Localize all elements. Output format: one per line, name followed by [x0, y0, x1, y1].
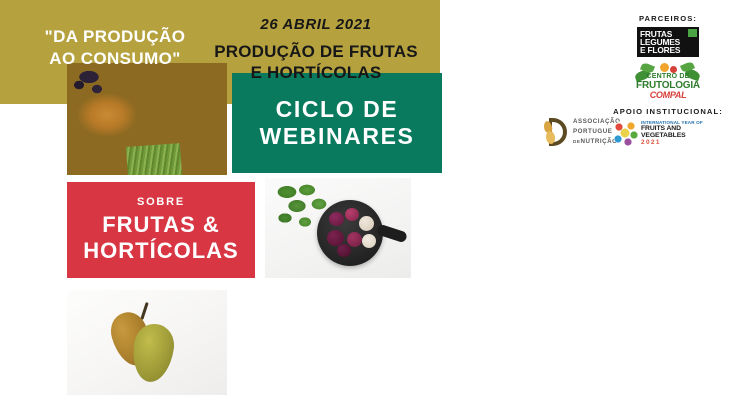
radish-detail	[362, 234, 376, 248]
green-block-line2: WEBINARES	[260, 123, 415, 150]
webinar-quote: "DA PRODUÇÃO AO CONSUMO"	[20, 26, 210, 70]
flf-line3: E FLORES	[640, 46, 696, 54]
ciclo-de-webinares-block: CICLO DE WEBINARES	[232, 73, 442, 173]
radish-detail	[345, 208, 359, 221]
session-title-group: 26 ABRIL 2021 PRODUÇÃO DE FRUTAS E HORTÍ…	[198, 16, 434, 83]
sobre-frutas-horticolas-block: SOBRE FRUTAS & HORTÍCOLAS	[67, 182, 255, 278]
partners-column: PARCEIROS: FRUTAS LEGUMES E FLORES CENTR…	[612, 14, 724, 146]
radish-detail	[347, 232, 362, 247]
institutional-support-group: APOIO INSTITUCIONAL: INTERNATIONAL YEAR …	[612, 107, 724, 146]
apn-logo-mark-icon	[543, 117, 567, 147]
quote-line1: "DA PRODUÇÃO	[20, 26, 210, 48]
institutional-label: APOIO INSTITUCIONAL:	[612, 107, 724, 116]
frutas-legumes-e-flores-logo: FRUTAS LEGUMES E FLORES	[637, 27, 699, 57]
iyfv-line3: 2021	[641, 139, 724, 146]
centro-de-frutologia-compal-logo: CENTRO DE FRUTOLOGIA COMPAL	[633, 61, 703, 101]
iyfv-line2: FRUITS AND VEGETABLES	[641, 125, 724, 139]
red-block-kicker: SOBRE	[137, 196, 185, 208]
frutologia-line3: COMPAL	[633, 90, 703, 100]
session-date: 26 ABRIL 2021	[198, 16, 434, 33]
two-pears-photo	[67, 290, 227, 395]
radish-detail	[359, 216, 374, 231]
frutologia-line1: CENTRO DE	[633, 73, 703, 80]
session-title-line1: PRODUÇÃO DE FRUTAS	[198, 41, 434, 62]
asparagus-detail	[126, 143, 182, 175]
green-block-line1: CICLO DE	[276, 96, 399, 123]
iyfv-emblem-icon	[612, 120, 638, 146]
radishes-in-skillet-photo	[265, 178, 411, 278]
pear-stem-detail	[140, 302, 148, 320]
partners-label: PARCEIROS:	[612, 14, 724, 23]
radish-detail	[337, 244, 351, 257]
flf-green-square-icon	[688, 29, 697, 37]
slide-canvas: CICLO DE WEBINARES SOBRE FRUTAS & HORTÍC…	[0, 0, 735, 400]
red-block-line2: HORTÍCOLAS	[83, 238, 238, 264]
quote-line2: AO CONSUMO"	[20, 48, 210, 70]
international-year-fruits-vegetables-logo: INTERNATIONAL YEAR OF FRUITS AND VEGETAB…	[612, 120, 724, 146]
radish-detail	[329, 212, 344, 226]
red-fruit-icon	[670, 66, 677, 73]
red-block-line1: FRUTAS &	[102, 212, 220, 238]
session-title-line2: E HORTÍCOLAS	[198, 62, 434, 83]
iyfv-text: INTERNATIONAL YEAR OF FRUITS AND VEGETAB…	[641, 120, 724, 146]
orange-fruit-icon	[660, 63, 669, 72]
